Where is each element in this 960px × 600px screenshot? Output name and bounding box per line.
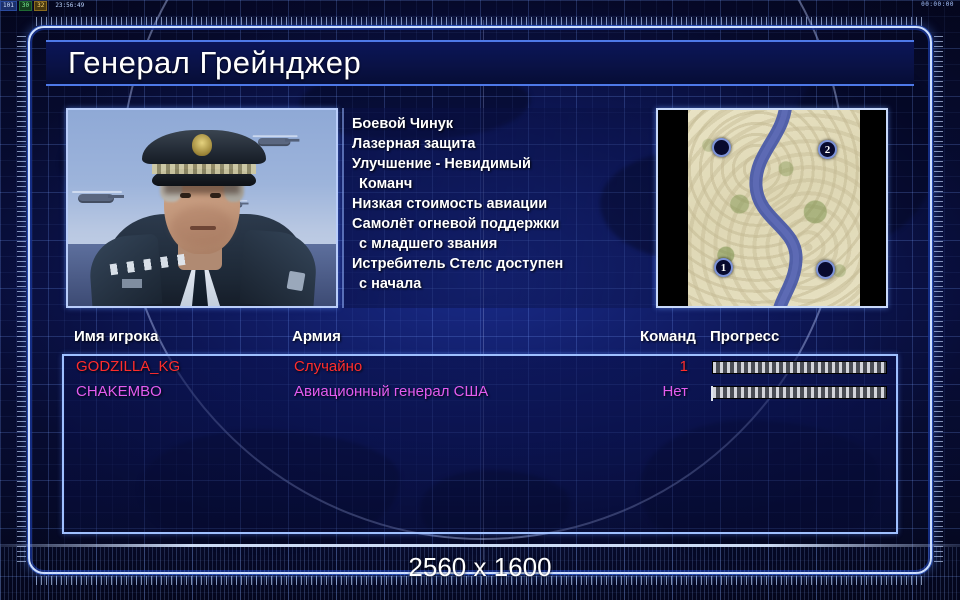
resolution-label: 2560 x 1600 xyxy=(0,552,960,583)
ruler-top xyxy=(36,17,924,26)
progress-fill xyxy=(713,387,886,398)
bottom-separator xyxy=(0,544,960,547)
spawn-point[interactable]: 1 xyxy=(714,258,733,277)
ability-line: Боевой Чинук xyxy=(352,114,648,134)
map-terrain: 2 1 xyxy=(688,110,860,306)
ability-line: с начала xyxy=(352,274,648,294)
player-name: CHAKEMBO xyxy=(76,383,162,400)
spawn-point[interactable]: 2 xyxy=(818,140,837,159)
column-header-player-name: Имя игрока xyxy=(74,328,158,345)
eagle-insignia-icon xyxy=(192,134,212,156)
upper-section: Боевой Чинук Лазерная защита Улучшение -… xyxy=(46,100,914,315)
player-team[interactable]: 1 xyxy=(642,358,688,375)
column-header-team: Команд xyxy=(640,328,696,345)
player-table: Имя игрока Армия Команд Прогресс GODZILL… xyxy=(46,328,914,543)
player-progress-bar xyxy=(712,361,887,374)
player-army[interactable]: Случайно xyxy=(294,358,362,375)
player-progress-bar xyxy=(712,386,887,399)
table-row[interactable]: GODZILLA_KG Случайно 1 xyxy=(64,356,896,381)
ability-line: Самолёт огневой поддержки xyxy=(352,214,648,234)
player-team[interactable]: Нет xyxy=(642,383,688,400)
hud-cell-2: 32 xyxy=(34,1,47,11)
player-name: GODZILLA_KG xyxy=(76,358,180,375)
column-header-progress: Прогресс xyxy=(710,328,779,345)
portrait-wings-badge xyxy=(287,271,306,292)
hud-top-strip: 101 30 32 23:56:49 xyxy=(0,0,960,11)
ruler-left xyxy=(17,36,26,564)
river-path-icon xyxy=(746,108,816,308)
column-header-army: Армия xyxy=(292,328,341,345)
ability-line: Истребитель Стелс доступен xyxy=(352,254,648,274)
portrait-eye-left xyxy=(180,193,191,198)
game-lobby-screen: 101 30 32 23:56:49 00:00:00 Генерал Грей… xyxy=(0,0,960,600)
table-body: GODZILLA_KG Случайно 1 CHAKEMBO Авиацион… xyxy=(62,354,898,534)
spawn-point[interactable] xyxy=(712,138,731,157)
player-army[interactable]: Авиационный генерал США xyxy=(294,383,488,400)
spawn-point[interactable] xyxy=(816,260,835,279)
map-preview[interactable]: 2 1 xyxy=(656,108,888,308)
ability-line: Улучшение - Невидимый xyxy=(352,154,648,174)
hud-cell-1: 30 xyxy=(19,1,32,11)
ability-line: Команч xyxy=(352,174,648,194)
hud-clock: 23:56:49 xyxy=(55,2,84,9)
general-portrait xyxy=(66,108,338,308)
page-title: Генерал Грейнджер xyxy=(68,45,361,81)
progress-fill xyxy=(713,362,886,373)
hud-elapsed-time: 00:00:00 xyxy=(921,1,954,8)
general-abilities-list: Боевой Чинук Лазерная защита Улучшение -… xyxy=(342,108,652,308)
portrait-eye-right xyxy=(210,193,221,198)
ability-line: Низкая стоимость авиации xyxy=(352,194,648,214)
portrait-mouth xyxy=(190,226,216,230)
title-bar: Генерал Грейнджер xyxy=(46,40,914,86)
ability-line: с младшего звания xyxy=(352,234,648,254)
table-header-row: Имя игрока Армия Команд Прогресс xyxy=(62,328,898,352)
portrait-ribbon-bar xyxy=(122,279,142,288)
table-row[interactable]: CHAKEMBO Авиационный генерал США Нет xyxy=(64,381,896,406)
ability-line: Лазерная защита xyxy=(352,134,648,154)
hud-cell-0: 101 xyxy=(0,1,17,11)
map-river xyxy=(746,108,816,308)
main-panel: Боевой Чинук Лазерная защита Улучшение -… xyxy=(46,100,914,550)
